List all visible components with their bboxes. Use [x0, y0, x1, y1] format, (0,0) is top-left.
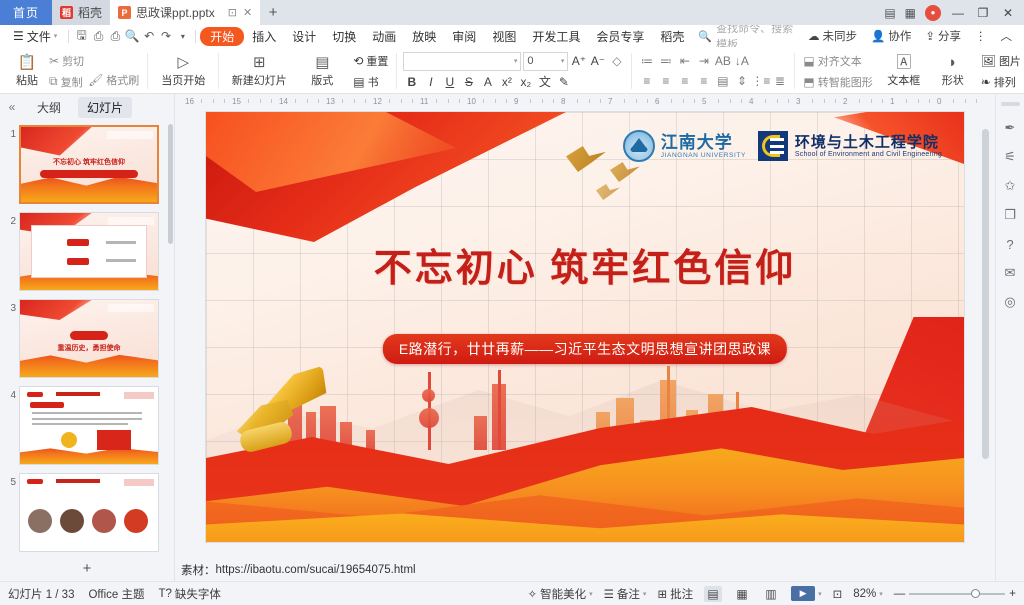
- font-size-value: 0: [527, 55, 533, 67]
- status-bar-right: ✧ 智能美化 ▾ ☰ 备注 ▾ ⊞ 批注 ▤ ▦ ▥ ▶ ▾ ⊡ 82%: [527, 586, 1016, 602]
- ruler-tick-label: 5: [702, 97, 706, 106]
- chevron-down-icon: ▾: [54, 32, 58, 40]
- multilevel-list-button[interactable]: ⋮≡: [752, 72, 769, 90]
- university-logo: 江南大学 JIANGNAN UNIVERSITY: [623, 130, 746, 162]
- ruler-tick-label: 1: [890, 97, 894, 106]
- format-painter-icon: 🖌: [88, 73, 103, 87]
- frame-icon[interactable]: ❐: [1000, 206, 1020, 224]
- ruler-tick: [976, 99, 977, 103]
- ruler-tick: [636, 99, 637, 103]
- ribbon-group-font: ▾ 0 ▾ A⁺ A⁻ ◇ B I U S A x² x₂ 文 ✎: [400, 49, 628, 93]
- tab-present-icon[interactable]: ⊡: [228, 6, 237, 19]
- notes-button[interactable]: ☰ 备注 ▾: [604, 586, 647, 602]
- ribbon-toolbar: 📋 粘贴 ✂ 剪切 ⧉ 复制 🖌 格式刷: [0, 47, 1024, 94]
- bold-button[interactable]: B: [403, 73, 420, 91]
- text-effects-button[interactable]: A: [479, 73, 496, 91]
- search-icon: 🔍: [698, 30, 712, 43]
- section-label: 书: [368, 74, 379, 90]
- restore-button[interactable]: ❐: [975, 6, 991, 20]
- increase-font-size-button[interactable]: A⁺: [570, 52, 587, 70]
- help-icon[interactable]: ?: [1000, 235, 1020, 253]
- textbox-icon: 🄰: [896, 55, 911, 71]
- tab-docer-label: 稻壳: [78, 4, 102, 21]
- tab-outline[interactable]: 大纲: [28, 97, 70, 118]
- school-name-cn: 环境与土木工程学院: [795, 134, 942, 151]
- window-controls: ▤ ▦ ● — ❐ ✕: [884, 0, 1024, 25]
- font-size-input[interactable]: 0 ▾: [523, 52, 568, 71]
- paste-icon: 📋: [18, 55, 37, 71]
- zoom-level-label: 82%: [853, 588, 876, 600]
- rail-handle[interactable]: [1001, 102, 1020, 106]
- tab-home[interactable]: 首页: [0, 0, 52, 25]
- ruler-tick: [459, 99, 460, 103]
- source-url[interactable]: https://ibaotu.com/sucai/19654075.html: [216, 564, 416, 576]
- normal-view-icon[interactable]: ▤: [704, 586, 722, 602]
- zoom-out-button[interactable]: —: [894, 588, 906, 600]
- ruler-tick-label: 11: [420, 97, 428, 106]
- school-name-en: School of Environment and Civil Engineer…: [795, 151, 942, 158]
- ruler-tick: [260, 99, 261, 103]
- slide-sorter-icon[interactable]: ▦: [733, 586, 751, 602]
- reset-button[interactable]: ⟲ 重置: [351, 51, 390, 71]
- tab-animation[interactable]: 动画: [364, 27, 404, 46]
- theme-name[interactable]: Office 主题: [88, 586, 144, 602]
- picture-label: 图片: [999, 53, 1021, 69]
- source-label: 素材：: [181, 562, 216, 578]
- picture-icon: 🖼: [981, 54, 996, 68]
- ruler-tick: [201, 99, 202, 103]
- new-slide-icon: ⊞: [253, 55, 266, 71]
- ruler-tick: [412, 99, 413, 103]
- tab-slideshow[interactable]: 放映: [404, 27, 444, 46]
- shape-label: 形状: [942, 72, 964, 88]
- ruler-tick: [671, 99, 672, 103]
- slide-number: 2: [2, 212, 16, 227]
- ruler-tick: [354, 99, 355, 103]
- university-name-cn: 江南大学: [661, 134, 746, 152]
- zoom-in-button[interactable]: +: [1009, 588, 1016, 600]
- settings-sliders-icon[interactable]: ⚟: [1000, 148, 1020, 166]
- zoom-slider-knob[interactable]: [971, 589, 980, 598]
- fit-to-window-button[interactable]: ⊡: [833, 587, 843, 601]
- increase-indent-button[interactable]: ⇥: [695, 52, 712, 70]
- ruler-tick-label: 13: [326, 97, 335, 106]
- ruler-tick: [835, 99, 836, 103]
- file-menu-label: 文件: [27, 28, 51, 45]
- feedback-icon[interactable]: ✉: [1000, 264, 1020, 282]
- slide-thumbnail-2[interactable]: [19, 212, 159, 291]
- slide-number: 5: [2, 473, 16, 488]
- ruler-tick: [577, 99, 578, 103]
- smart-beautify-button[interactable]: ✧ 智能美化 ▾: [527, 586, 592, 602]
- tab-close-icon[interactable]: ✕: [243, 6, 252, 19]
- ruler-tick: [600, 99, 601, 103]
- start-from-current-button[interactable]: ▷ 当页开始: [154, 49, 212, 93]
- school-emblem-icon: [758, 131, 788, 161]
- ruler-tick: [307, 99, 308, 103]
- slide-number: 3: [2, 299, 16, 314]
- convert-smartart-label: 转智能图形: [818, 74, 873, 90]
- slide-logos: 江南大学 JIANGNAN UNIVERSITY 环境与土木工程学院 Schoo…: [623, 130, 942, 162]
- customize-qat-icon[interactable]: ▾: [174, 27, 191, 46]
- tab-developer[interactable]: 开发工具: [524, 27, 588, 46]
- menu-bar: ☰ 文件 ▾ 🖫 ⎙ ⎙ 🔍 ↶ ↷ ▾ 开始 插入 设计 切换 动画 放映 审…: [0, 25, 1024, 47]
- subscript-button[interactable]: x₂: [517, 73, 534, 91]
- ruler-tick: [248, 99, 249, 103]
- pinyin-guide-button[interactable]: 文: [536, 73, 553, 91]
- ruler-tick: [718, 99, 719, 103]
- ruler-tick: [953, 99, 954, 103]
- numbering-button[interactable]: ≕: [657, 52, 674, 70]
- ruler-tick: [530, 99, 531, 103]
- ribbon-group-text: ⬓ 对齐文本 ⬒ 转智能图形 🄰 文本框 ◗ 形状: [798, 49, 975, 93]
- list-item[interactable]: 5: [0, 470, 174, 555]
- ruler-tick: [918, 99, 919, 103]
- notes-label: 备注: [617, 586, 640, 602]
- ruler-tick-label: 7: [608, 97, 612, 106]
- align-center-button[interactable]: ≡: [657, 72, 674, 90]
- divider: [396, 53, 397, 89]
- tab-docer[interactable]: 稻壳: [652, 27, 692, 46]
- ruler-tick: [765, 99, 766, 103]
- divider: [218, 53, 219, 89]
- align-right-button[interactable]: ≡: [676, 72, 693, 90]
- divider: [195, 30, 196, 43]
- section-icon: ▤: [353, 75, 364, 89]
- align-text-icon: ⬓: [803, 54, 814, 68]
- italic-button[interactable]: I: [422, 73, 439, 91]
- picture-button[interactable]: 🖼 图片: [979, 51, 1023, 71]
- clear-format-icon[interactable]: ◇: [608, 52, 625, 70]
- workspace: « 大纲 幻灯片 1 不忘初心 筑牢红色信仰: [0, 94, 1024, 581]
- ruler-tick: [401, 99, 402, 103]
- chevron-down-icon: ▾: [879, 590, 883, 598]
- reset-label: 重置: [366, 53, 388, 69]
- divider: [147, 53, 148, 89]
- share-icon: ⇪: [925, 29, 935, 43]
- copy-button[interactable]: ⧉ 复制: [47, 72, 86, 92]
- ruler-tick: [683, 99, 684, 103]
- collaborate-button[interactable]: 👤 协作: [865, 28, 917, 44]
- ruler-tick: [389, 99, 390, 103]
- play-slideshow-button[interactable]: ▶: [791, 586, 815, 601]
- play-circle-icon: ▷: [178, 55, 190, 71]
- save-as-icon[interactable]: ⎙: [90, 27, 107, 46]
- slide-navigator-pane: « 大纲 幻灯片 1 不忘初心 筑牢红色信仰: [0, 94, 175, 581]
- hamburger-icon: ☰: [13, 29, 24, 43]
- ruler-tick: [871, 99, 872, 103]
- ruler-tick-label: 4: [749, 97, 753, 106]
- divider: [794, 53, 795, 89]
- slide-thumbnail-list[interactable]: 1 不忘初心 筑牢红色信仰 2: [0, 120, 174, 555]
- tab-member[interactable]: 会员专享: [588, 27, 652, 46]
- text-direction-button[interactable]: AB: [714, 52, 731, 70]
- ruler-tick: [295, 99, 296, 103]
- align-text-button[interactable]: ⬓ 对齐文本: [801, 51, 874, 71]
- print-icon[interactable]: ⎙: [107, 27, 124, 46]
- highlight-color-button[interactable]: ✎: [555, 73, 572, 91]
- avatar[interactable]: ●: [925, 5, 941, 21]
- ribbon-group-paragraph: ≔ ≕ ⇤ ⇥ AB ↓A ≡ ≡ ≡ ≡ ▤ ⇕ ⋮≡ ≣: [635, 49, 791, 93]
- comment-icon: ⊞: [657, 587, 667, 601]
- sync-status-label: 未同步: [823, 28, 858, 44]
- wps-presentation-window: 首页 稻 稻壳 P 思政课ppt.pptx ⊡ ✕ + ▤ ▦ ● — ❐ ✕ …: [0, 0, 1024, 605]
- decrease-font-size-button[interactable]: A⁻: [589, 52, 606, 70]
- collaborate-label: 协作: [888, 28, 911, 44]
- slide-navigator-header: « 大纲 幻灯片: [0, 94, 174, 120]
- shape-button[interactable]: ◗ 形状: [933, 49, 973, 93]
- chevron-down-icon[interactable]: ▾: [818, 590, 822, 598]
- menu-bar-right: ☁ 未同步 👤 协作 ⇪ 分享 ⋮ ︿: [802, 28, 1024, 44]
- redo-icon[interactable]: ↷: [158, 27, 175, 46]
- tab-presentation[interactable]: P 思政课ppt.pptx ⊡ ✕: [110, 0, 260, 25]
- file-menu[interactable]: ☰ 文件 ▾: [6, 25, 64, 47]
- more-options-button[interactable]: ⋮: [969, 29, 993, 43]
- chevron-down-icon: ▾: [643, 590, 647, 598]
- arrange-button[interactable]: ❧ 排列: [979, 72, 1023, 92]
- section-button[interactable]: ▤ 书: [351, 72, 390, 92]
- ribbon-group-slides: ⊞ 新建幻灯片 ▤ 版式 ⟲ 重置 ▤ 书: [222, 49, 393, 93]
- pptx-icon: P: [118, 6, 131, 19]
- ruler-tick: [224, 99, 225, 103]
- ruler-tick: [542, 99, 543, 103]
- add-slide-button[interactable]: +: [0, 555, 174, 581]
- collapse-ribbon-button[interactable]: ︿: [995, 28, 1019, 44]
- ruler-tick-label: 0: [937, 97, 941, 106]
- slide-thumbnail-1[interactable]: 不忘初心 筑牢红色信仰: [19, 125, 159, 204]
- right-tool-rail: ✒ ⚟ ✩ ❐ ? ✉ ◎: [995, 94, 1024, 581]
- ruler-tick: [213, 99, 214, 103]
- list-item[interactable]: 4: [0, 383, 174, 470]
- ruler-tick: [271, 99, 272, 103]
- source-note: 素材： https://ibaotu.com/sucai/19654075.ht…: [175, 559, 995, 581]
- comments-label: 批注: [670, 586, 693, 602]
- ruler-tick: [906, 99, 907, 103]
- ribbon-group-arrange: 🖼 图片 ❧ 排列 ◍ 填充 ▢ 轮廓: [976, 49, 1024, 93]
- thumbnail-scrollbar[interactable]: [168, 124, 173, 244]
- collapse-pane-icon[interactable]: «: [4, 100, 20, 114]
- smartart-icon: ⬒: [803, 75, 814, 89]
- ruler-tick: [741, 99, 742, 103]
- font-missing-label: 缺失字体: [175, 586, 221, 602]
- zoom-slider-track[interactable]: [909, 593, 1005, 595]
- ruler-tick: [859, 99, 860, 103]
- ruler-tick-label: 15: [232, 97, 241, 106]
- cut-icon: ✂: [49, 54, 59, 68]
- collaborate-icon: 👤: [871, 29, 885, 43]
- ruler-tick: [506, 99, 507, 103]
- tab-slides[interactable]: 幻灯片: [78, 97, 132, 118]
- decrease-indent-button[interactable]: ⇤: [676, 52, 693, 70]
- beautify-icon: ✧: [527, 587, 537, 601]
- share-label: 分享: [938, 28, 961, 44]
- paragraph-sort-button[interactable]: ↓A: [733, 52, 750, 70]
- ruler-tick-label: 8: [561, 97, 565, 106]
- format-painter-label: 格式刷: [106, 72, 139, 88]
- ruler-tick: [624, 99, 625, 103]
- ruler-tick: [436, 99, 437, 103]
- save-icon[interactable]: 🖫: [73, 27, 90, 46]
- ruler-tick: [812, 99, 813, 103]
- play-slideshow-group: ▶ ▾: [791, 586, 822, 601]
- list-item[interactable]: 1 不忘初心 筑牢红色信仰: [0, 122, 174, 209]
- decor-trumpet: [234, 368, 342, 476]
- list-item[interactable]: 3 重温历史，勇担使命: [0, 296, 174, 383]
- ruler-tick-label: 12: [373, 97, 382, 106]
- canvas-scrollbar[interactable]: [982, 129, 989, 459]
- slide-number: 4: [2, 386, 16, 401]
- school-logo: 环境与土木工程学院 School of Environment and Civi…: [758, 131, 942, 161]
- textbox-button[interactable]: 🄰 文本框: [875, 49, 933, 93]
- tab-presentation-label: 思政课ppt.pptx: [136, 4, 215, 21]
- tab-view[interactable]: 视图: [484, 27, 524, 46]
- comments-button[interactable]: ⊞ 批注: [657, 586, 693, 602]
- slide-thumbnail-4[interactable]: [19, 386, 159, 465]
- cloud-icon: ☁: [808, 29, 820, 43]
- tab-insert[interactable]: 插入: [244, 27, 284, 46]
- list-style-button[interactable]: ≣: [771, 72, 788, 90]
- feather-icon[interactable]: ✒: [1000, 119, 1020, 137]
- zoom-slider[interactable]: — +: [894, 588, 1016, 600]
- tab-review[interactable]: 审阅: [444, 27, 484, 46]
- zoom-level[interactable]: 82% ▾: [853, 588, 883, 600]
- ruler-tick-label: 16: [185, 97, 194, 106]
- tab-start[interactable]: 开始: [200, 27, 244, 46]
- font-family-input[interactable]: ▾: [403, 52, 521, 71]
- chevron-down-icon: ▾: [561, 57, 565, 65]
- ruler-tick: [483, 99, 484, 103]
- tab-design[interactable]: 设计: [284, 27, 324, 46]
- tab-transition[interactable]: 切换: [324, 27, 364, 46]
- align-left-button[interactable]: ≡: [638, 72, 655, 90]
- superscript-button[interactable]: x²: [498, 73, 515, 91]
- distribute-button[interactable]: ▤: [714, 72, 731, 90]
- star-effects-icon[interactable]: ✩: [1000, 177, 1020, 195]
- ruler-tick-label: 9: [514, 97, 518, 106]
- slide-canvas-area[interactable]: 江南大学 JIANGNAN UNIVERSITY 环境与土木工程学院 Schoo…: [175, 109, 995, 559]
- ruler-tick: [342, 99, 343, 103]
- ribbon-group-slideshow: ▷ 当页开始: [151, 49, 215, 93]
- ruler-tick: [448, 99, 449, 103]
- ribbon-group-clipboard: 📋 粘贴 ✂ 剪切 ⧉ 复制 🖌 格式刷: [4, 49, 144, 93]
- ruler-tick-label: 3: [796, 97, 800, 106]
- font-missing-status[interactable]: T? 缺失字体: [159, 586, 221, 602]
- ruler-tick: [589, 99, 590, 103]
- slide-thumbnail-5[interactable]: [19, 473, 159, 552]
- ruler-tick: [694, 99, 695, 103]
- paste-label: 粘贴: [16, 72, 38, 88]
- divider: [68, 30, 69, 43]
- ruler-tick: [647, 99, 648, 103]
- close-button[interactable]: ✕: [1000, 6, 1016, 20]
- ruler-tick: [777, 99, 778, 103]
- grid-apps-icon[interactable]: ▦: [905, 6, 916, 20]
- cut-button[interactable]: ✂ 剪切: [47, 51, 86, 71]
- arrange-icon: ❧: [981, 75, 991, 89]
- shape-icon: ◗: [948, 55, 957, 71]
- undo-icon[interactable]: ↶: [141, 27, 158, 46]
- copy-icon: ⧉: [49, 74, 58, 89]
- minimize-button[interactable]: —: [950, 6, 966, 20]
- ruler-tick: [365, 99, 366, 103]
- docer-icon: 稻: [60, 6, 73, 19]
- justify-button[interactable]: ≡: [695, 72, 712, 90]
- ruler-tick-label: 6: [655, 97, 659, 106]
- tab-docer[interactable]: 稻 稻壳: [52, 0, 110, 25]
- ruler-tick: [553, 99, 554, 103]
- chevron-down-icon: ▾: [589, 590, 593, 598]
- reset-icon: ⟲: [353, 54, 363, 68]
- list-item[interactable]: 2: [0, 209, 174, 296]
- ruler-tick-label: 10: [467, 97, 476, 106]
- university-seal-icon: [623, 130, 655, 162]
- cut-label: 剪切: [62, 53, 84, 69]
- copy-label: 复制: [61, 74, 83, 90]
- slide-editor: 161514131211109876543210: [175, 94, 995, 581]
- layout-label: 版式: [311, 72, 333, 88]
- ruler-tick: [495, 99, 496, 103]
- ruler-tick: [730, 99, 731, 103]
- sync-status[interactable]: ☁ 未同步: [802, 28, 863, 44]
- print-preview-icon[interactable]: 🔍: [124, 27, 141, 46]
- status-bar: 幻灯片 1 / 33 Office 主题 T? 缺失字体 ✧ 智能美化 ▾ ☰ …: [0, 581, 1024, 605]
- start-from-current-label: 当页开始: [161, 72, 205, 88]
- underline-button[interactable]: U: [441, 73, 458, 91]
- format-painter-button[interactable]: 🖌 格式刷: [86, 70, 141, 90]
- university-name-en: JIANGNAN UNIVERSITY: [661, 152, 746, 159]
- ruler-tick-label: 2: [843, 97, 847, 106]
- slide-title[interactable]: 不忘初心 筑牢红色信仰: [206, 237, 964, 292]
- font-warning-icon: T?: [159, 588, 172, 600]
- beautify-label: 智能美化: [540, 586, 586, 602]
- chevron-down-icon: ▾: [514, 57, 518, 65]
- strikethrough-button[interactable]: S: [460, 73, 477, 91]
- ruler-tick: [318, 99, 319, 103]
- line-spacing-button[interactable]: ⇕: [733, 72, 750, 90]
- layout-switch-icon[interactable]: ▤: [884, 6, 895, 20]
- convert-smartart-button[interactable]: ⬒ 转智能图形: [801, 72, 874, 92]
- ruler-tick: [788, 99, 789, 103]
- textbox-label: 文本框: [887, 72, 920, 88]
- layout-button[interactable]: ▤ 版式: [293, 49, 351, 93]
- slide-canvas[interactable]: 江南大学 JIANGNAN UNIVERSITY 环境与土木工程学院 Schoo…: [206, 112, 964, 542]
- paste-button[interactable]: 📋 粘贴: [7, 49, 47, 93]
- ruler-tick-label: 14: [279, 97, 288, 106]
- slide-thumbnail-3[interactable]: 重温历史，勇担使命: [19, 299, 159, 378]
- bullets-button[interactable]: ≔: [638, 52, 655, 70]
- align-text-label: 对齐文本: [818, 53, 862, 69]
- document-tab-bar: 首页 稻 稻壳 P 思政课ppt.pptx ⊡ ✕ + ▤ ▦ ● — ❐ ✕: [0, 0, 1024, 25]
- notes-icon: ☰: [604, 587, 614, 601]
- new-tab-button[interactable]: +: [260, 0, 286, 25]
- slide-number: 1: [2, 125, 16, 140]
- layout-icon: ▤: [315, 55, 329, 71]
- horizontal-ruler[interactable]: 161514131211109876543210: [175, 94, 995, 109]
- new-slide-button[interactable]: ⊞ 新建幻灯片: [225, 49, 293, 93]
- ruler-tick: [965, 99, 966, 103]
- new-slide-label: 新建幻灯片: [232, 72, 287, 88]
- arrange-label: 排列: [994, 74, 1016, 90]
- ruler-tick: [824, 99, 825, 103]
- reading-view-icon[interactable]: ▥: [762, 586, 780, 602]
- divider: [631, 53, 632, 89]
- ruler-tick: [882, 99, 883, 103]
- ruler-tick: [929, 99, 930, 103]
- share-button[interactable]: ⇪ 分享: [919, 28, 967, 44]
- slide-count: 幻灯片 1 / 33: [8, 586, 74, 602]
- shield-icon[interactable]: ◎: [1000, 293, 1020, 311]
